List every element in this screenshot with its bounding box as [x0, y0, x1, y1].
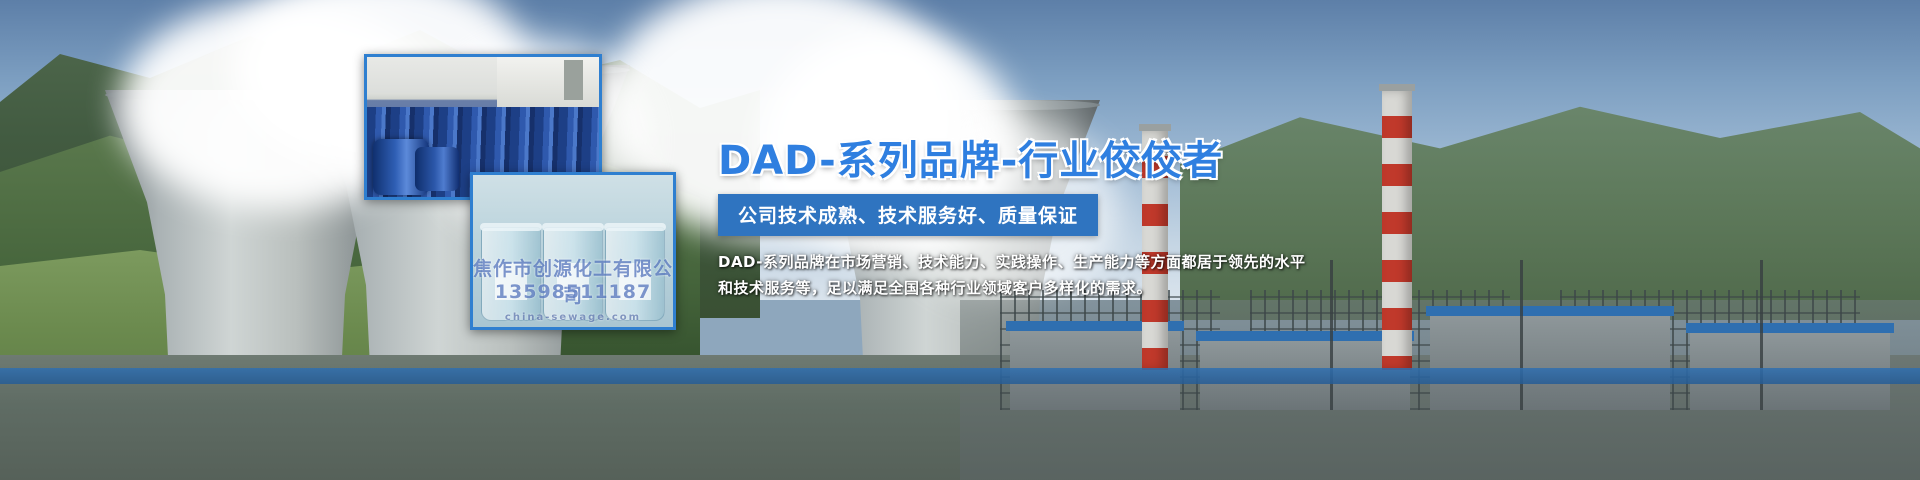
- pails-image: 焦作市创源化工有限公司 13598511187 china-sewage.com: [473, 175, 673, 327]
- pail-3: [605, 227, 665, 321]
- utility-pole-3: [1760, 260, 1763, 410]
- hero-banner: 焦作市创源化工有限公司 13598511187 china-sewage.com…: [0, 0, 1920, 480]
- plant-building-3: [1430, 315, 1670, 410]
- utility-pole-2: [1520, 260, 1523, 410]
- warehouse-door: [564, 60, 582, 99]
- foreground-drum-2: [415, 147, 459, 191]
- banner-subtitle-bar: 公司技术成熟、技术服务好、质量保证: [718, 194, 1098, 236]
- banner-headline: DAD-系列品牌-行业佼佼者: [718, 140, 1438, 182]
- copy-block: DAD-系列品牌-行业佼佼者 公司技术成熟、技术服务好、质量保证 DAD-系列品…: [718, 140, 1438, 302]
- pail-2: [543, 227, 603, 321]
- pail-1: [481, 227, 541, 321]
- banner-paragraph-line-1: DAD-系列品牌在市场营销、技术能力、实践操作、生产能力等方面都居于领先的水平: [718, 250, 1438, 276]
- inset-photo-pails: 焦作市创源化工有限公司 13598511187 china-sewage.com: [470, 172, 676, 330]
- warehouse-room: [497, 57, 599, 113]
- banner-paragraph-line-2: 和技术服务等，足以满足全国各种行业领域客户多样化的需求。: [718, 276, 1438, 302]
- blue-ground-strip: [0, 368, 1920, 384]
- banner-paragraph: DAD-系列品牌在市场营销、技术能力、实践操作、生产能力等方面都居于领先的水平 …: [718, 250, 1438, 302]
